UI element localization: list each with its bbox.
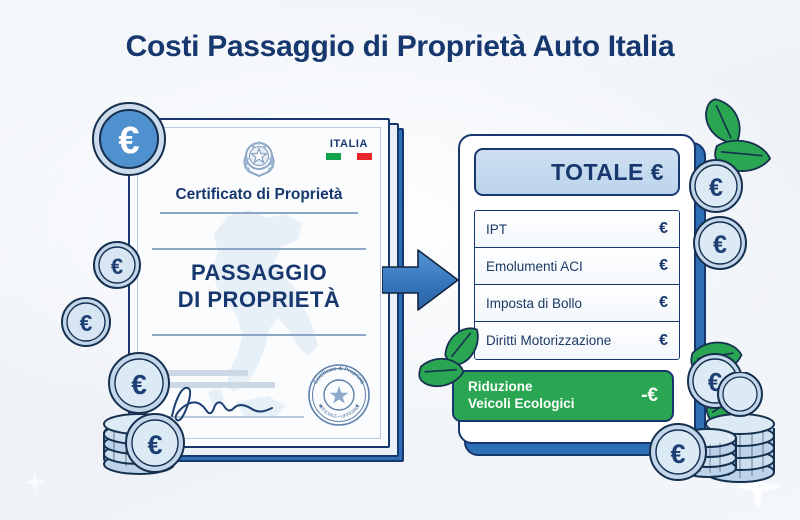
cost-row-value: € bbox=[659, 294, 668, 312]
cost-row-label: IPT bbox=[486, 222, 507, 237]
eco-reduction-value: -€ bbox=[641, 385, 658, 407]
headline-line-2: DI PROPRIETÀ bbox=[130, 287, 388, 314]
svg-text:€: € bbox=[111, 254, 123, 279]
total-box: TOTALE € bbox=[474, 148, 680, 196]
italia-badge: ITALIA bbox=[326, 138, 372, 160]
eco-label-line-2: Veicoli Ecologici bbox=[468, 396, 575, 413]
cost-row-label: Emolumenti ACI bbox=[486, 259, 583, 274]
eco-reduction-label: Riduzione Veicoli Ecologici bbox=[468, 379, 575, 413]
cost-row-value: € bbox=[659, 257, 668, 275]
divider bbox=[152, 248, 366, 250]
svg-text:€: € bbox=[118, 120, 139, 162]
svg-text:€: € bbox=[80, 310, 93, 336]
cost-row-value: € bbox=[659, 332, 668, 350]
svg-text:Certificato di Proprietà: Certificato di Proprietà bbox=[313, 366, 365, 385]
divider bbox=[160, 212, 358, 214]
cost-row-diritti-motorizzazione[interactable]: Diritti Motorizzazione € bbox=[475, 322, 679, 359]
cost-row-label: Diritti Motorizzazione bbox=[486, 333, 611, 348]
svg-text:€: € bbox=[670, 439, 685, 469]
coin-mid-left-icon: € bbox=[92, 240, 142, 290]
divider bbox=[152, 334, 366, 336]
cost-row-ipt[interactable]: IPT € bbox=[475, 211, 679, 248]
svg-text:€: € bbox=[131, 369, 147, 400]
coin-right-upper-icon: € bbox=[688, 158, 744, 214]
certificate-title: Certificato di Proprietà bbox=[130, 186, 388, 204]
document-headline: PASSAGGIO DI PROPRIETÀ bbox=[130, 260, 388, 314]
cost-row-value: € bbox=[659, 220, 668, 238]
coin-top-left-icon: € bbox=[90, 100, 168, 178]
total-label: TOTALE € bbox=[551, 159, 664, 186]
coin-bottom-left-icon: € bbox=[124, 412, 186, 474]
infographic-canvas: Costi Passaggio di Proprietà Auto Italia bbox=[0, 0, 800, 520]
coin-lower-left-icon: € bbox=[60, 296, 112, 348]
cost-row-label: Imposta di Bollo bbox=[486, 296, 582, 311]
cost-rows: IPT € Emolumenti ACI € Imposta di Bollo … bbox=[474, 210, 680, 360]
cost-panel: TOTALE € IPT € Emolumenti ACI € Imposta … bbox=[458, 134, 696, 444]
country-label: ITALIA bbox=[326, 138, 372, 150]
cost-row-emolumenti-aci[interactable]: Emolumenti ACI € bbox=[475, 248, 679, 285]
svg-text:€: € bbox=[147, 430, 162, 460]
coin-stack-right-short-icon: € bbox=[648, 408, 740, 490]
headline-line-1: PASSAGGIO bbox=[130, 260, 388, 287]
cost-row-imposta-di-bollo[interactable]: Imposta di Bollo € bbox=[475, 285, 679, 322]
italian-flag-icon bbox=[326, 153, 372, 160]
right-arrow-icon bbox=[382, 240, 460, 320]
page-title: Costi Passaggio di Proprietà Auto Italia bbox=[0, 30, 800, 64]
svg-text:€: € bbox=[713, 231, 727, 259]
eco-label-line-1: Riduzione bbox=[468, 379, 575, 396]
official-seal-icon: Certificato di Proprietà UFFICIALE • UFF… bbox=[306, 362, 372, 428]
italian-republic-emblem-icon bbox=[238, 136, 280, 180]
coin-right-lower-icon: € bbox=[692, 215, 748, 271]
eco-reduction-bar[interactable]: Riduzione Veicoli Ecologici -€ bbox=[452, 370, 674, 422]
svg-text:€: € bbox=[709, 174, 723, 202]
